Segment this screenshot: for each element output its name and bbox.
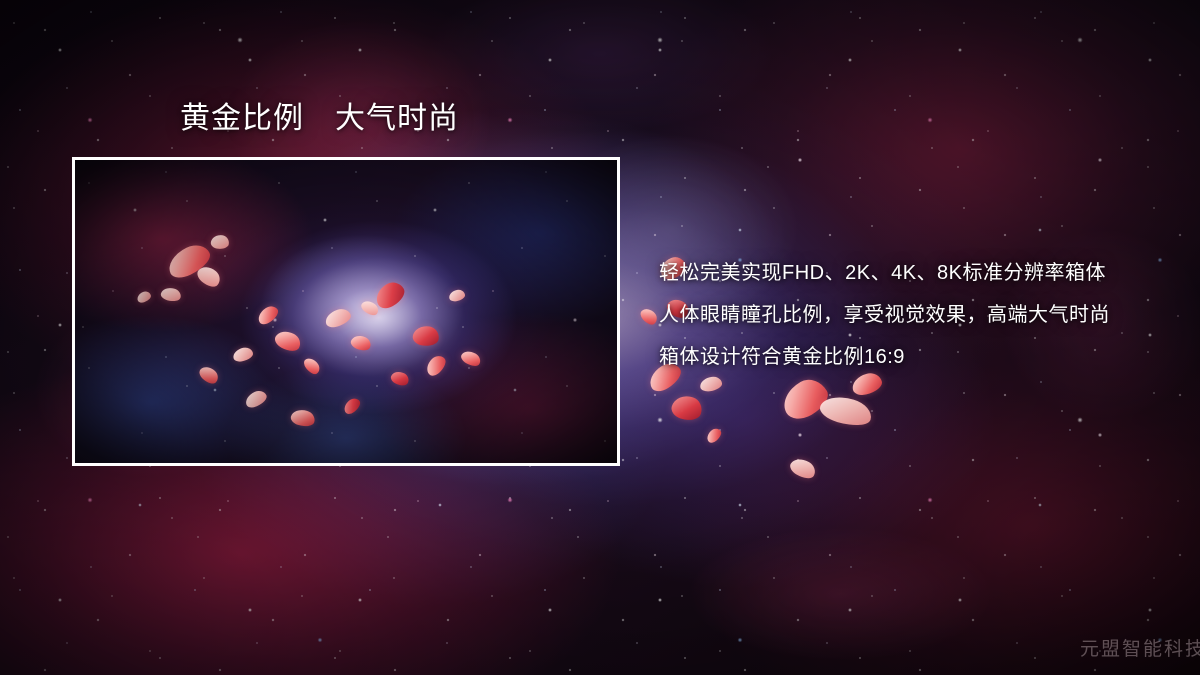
page-title: 黄金比例 大气时尚	[180, 102, 459, 137]
panel-vignette	[75, 160, 617, 463]
framed-image-panel	[72, 157, 620, 466]
body-line: 人体眼睛瞳孔比例，享受视觉效果，高端大气时尚	[659, 300, 1110, 342]
watermark: 元盟智能科技	[1080, 634, 1200, 661]
body-line: 轻松完美实现FHD、2K、4K、8K标准分辨率箱体	[659, 258, 1110, 300]
body-line: 箱体设计符合黄金比例16:9	[659, 342, 1110, 384]
presentation-slide: 黄金比例 大气时尚 轻松完美实现FHD、2K、4K、8K标准分辨率箱体 人体眼睛…	[0, 0, 1200, 675]
body-text-block: 轻松完美实现FHD、2K、4K、8K标准分辨率箱体 人体眼睛瞳孔比例，享受视觉效…	[659, 258, 1110, 384]
